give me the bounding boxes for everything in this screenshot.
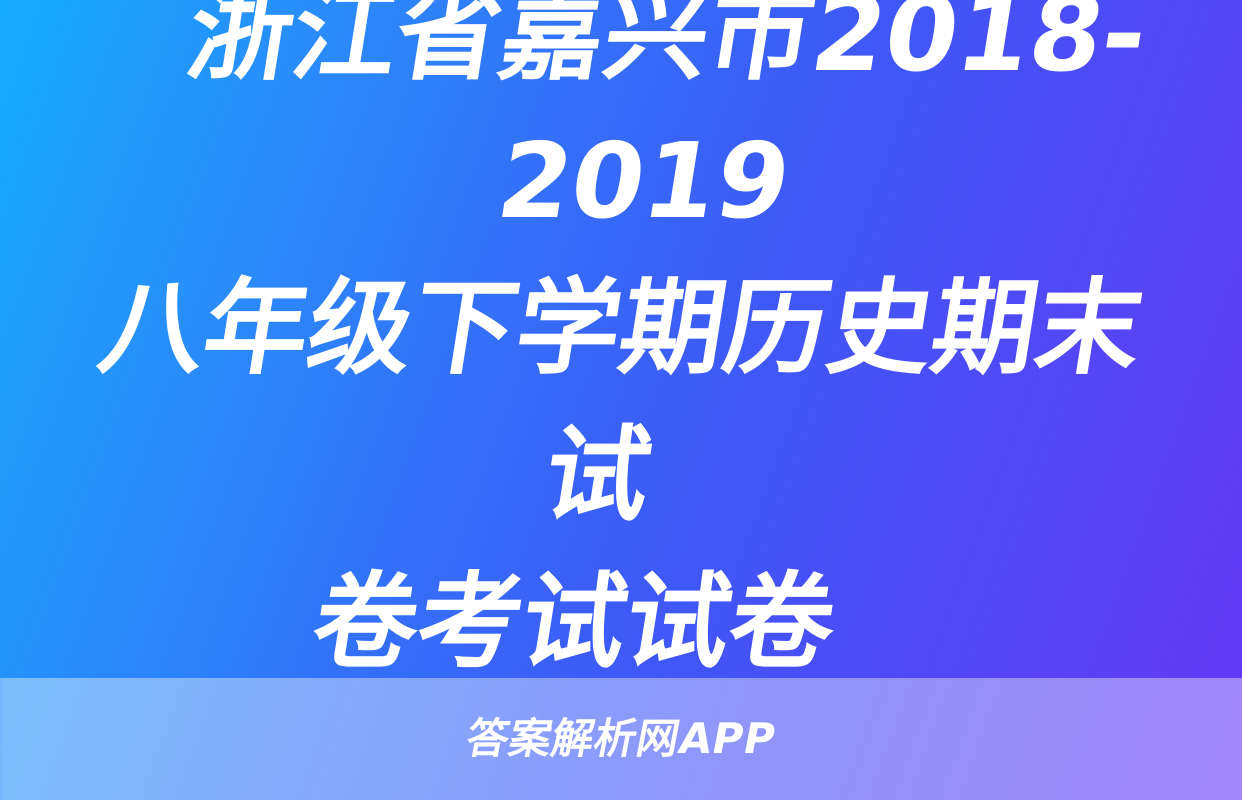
exam-cover-poster: 浙江省嘉兴市2018-2019 八年级下学期历史期末试 卷考试试卷 答案解析网A… xyxy=(0,0,1242,800)
page-title: 浙江省嘉兴市2018-2019 八年级下学期历史期末试 卷考试试卷 xyxy=(0,0,1242,696)
footer-watermark-band: 答案解析网APP xyxy=(0,678,1242,800)
poster-hero-section: 浙江省嘉兴市2018-2019 八年级下学期历史期末试 卷考试试卷 xyxy=(0,0,1242,678)
app-watermark-label: 答案解析网APP xyxy=(463,718,779,760)
